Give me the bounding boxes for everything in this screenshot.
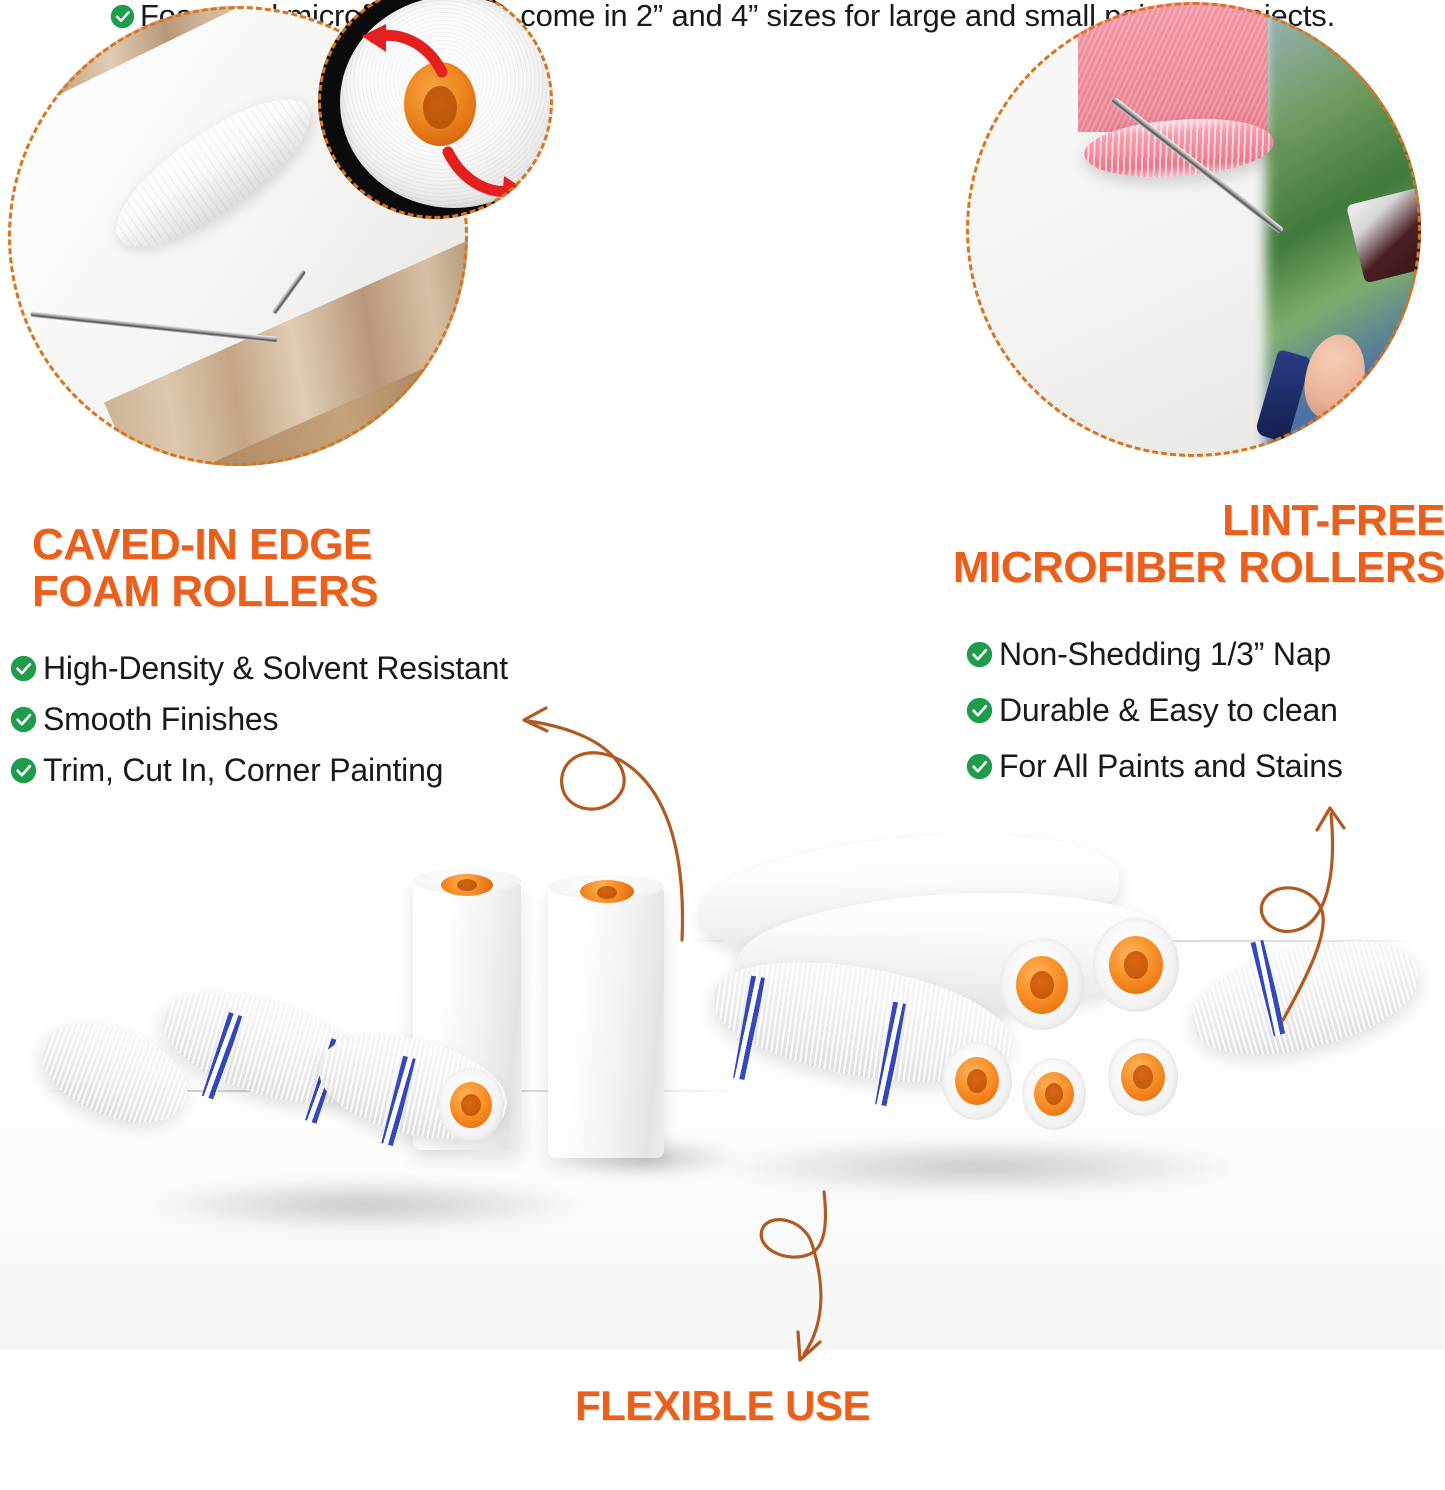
roller-end-cap bbox=[1093, 918, 1179, 1012]
roller-end-cap bbox=[942, 1042, 1012, 1120]
curly-arrow-left-icon bbox=[500, 690, 710, 940]
list-item: Smooth Finishes bbox=[10, 703, 508, 735]
rotate-arrow-down-icon bbox=[438, 144, 530, 206]
left-feature-list: High-Density & Solvent Resistant Smooth … bbox=[10, 652, 508, 805]
check-circle-icon bbox=[10, 757, 37, 784]
list-item: High-Density & Solvent Resistant bbox=[10, 652, 508, 684]
list-item: Durable & Easy to clean bbox=[966, 694, 1343, 726]
right-headline-line-2: MICROFIBER ROLLERS bbox=[838, 545, 1445, 592]
check-circle-icon bbox=[966, 753, 993, 780]
right-section-headline: LINT-FREE MICROFIBER ROLLERS bbox=[838, 498, 1445, 591]
list-item: Trim, Cut In, Corner Painting bbox=[10, 754, 508, 786]
roller-end-cap bbox=[1000, 938, 1084, 1030]
list-item-label: High-Density & Solvent Resistant bbox=[43, 652, 508, 684]
left-headline-line-1: CAVED-IN EDGE bbox=[32, 522, 378, 569]
roller-end-cap bbox=[1108, 1038, 1178, 1116]
caved-in-edge-closeup bbox=[318, 0, 553, 219]
list-item-label: Durable & Easy to clean bbox=[999, 694, 1338, 726]
right-headline-line-1: LINT-FREE bbox=[838, 498, 1445, 545]
roller-end-cap bbox=[438, 1068, 504, 1142]
curly-arrow-down-icon bbox=[700, 1190, 920, 1390]
left-headline-line-2: FOAM ROLLERS bbox=[32, 569, 378, 616]
check-circle-icon bbox=[966, 697, 993, 724]
list-item-label: Trim, Cut In, Corner Painting bbox=[43, 754, 443, 786]
roller-end-cap bbox=[1022, 1058, 1086, 1130]
list-item-label: Non-Shedding 1/3” Nap bbox=[999, 638, 1331, 670]
list-item: Non-Shedding 1/3” Nap bbox=[966, 638, 1343, 670]
left-section-headline: CAVED-IN EDGE FOAM ROLLERS bbox=[32, 522, 378, 615]
bottom-section-headline: FLEXIBLE USE bbox=[0, 1384, 1445, 1429]
curly-arrow-up-icon bbox=[1245, 760, 1435, 1020]
right-product-photo bbox=[966, 2, 1421, 457]
check-circle-icon bbox=[10, 655, 37, 682]
check-circle-icon bbox=[10, 706, 37, 733]
infographic-page: CAVED-IN EDGE FOAM ROLLERS LINT-FREE MIC… bbox=[0, 0, 1445, 1490]
check-circle-icon bbox=[966, 641, 993, 668]
list-item-label: Smooth Finishes bbox=[43, 703, 278, 735]
rotate-arrow-up-icon bbox=[360, 22, 452, 82]
